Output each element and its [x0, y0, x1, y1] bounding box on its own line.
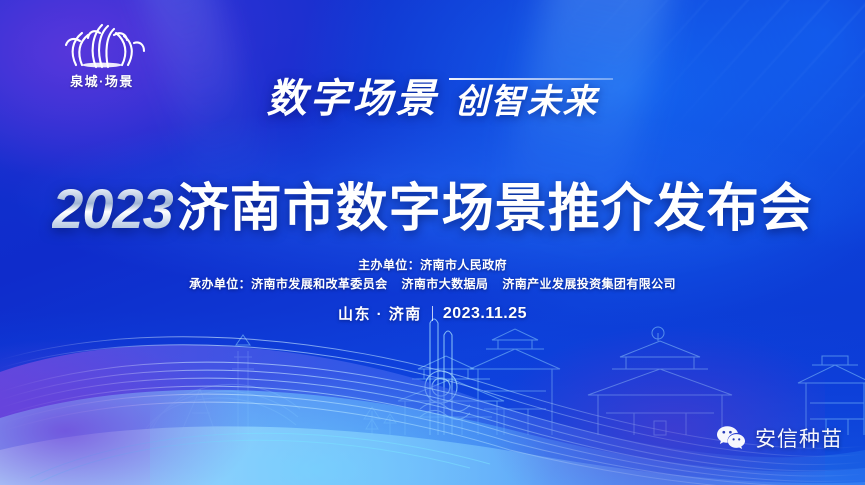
- co-organizer-line: 承办单位：济南市发展和改革委员会济南市大数据局济南产业发展投资集团有限公司: [0, 275, 865, 294]
- tagline: 数字场景 创智未来: [0, 76, 865, 119]
- wave-glow-cyan: [150, 365, 570, 485]
- event-date: 2023.11.25: [443, 305, 527, 323]
- dateline-divider: [432, 306, 433, 321]
- headline-main: 济南市数字场景推介发布会: [177, 180, 813, 238]
- tagline-divider-rule: [449, 78, 613, 80]
- tagline-primary: 数字场景: [267, 79, 439, 119]
- co-organizer-item-2: 济南市大数据局: [402, 277, 489, 291]
- spring-fountain-icon: [56, 21, 148, 69]
- headline-year: 2023: [52, 177, 173, 240]
- skyline-wave-section: [0, 310, 865, 485]
- host-organizer-line: 主办单位：济南市人民政府: [0, 256, 865, 275]
- page-title: 2023济南市数字场景推介发布会: [0, 166, 865, 241]
- event-poster: 泉城·场景 数字场景 创智未来 2023济南市数字场景推介发布会 主办单位：济南…: [0, 0, 865, 485]
- tagline-secondary-wrap: 创智未来: [455, 76, 599, 119]
- co-organizer-item-3: 济南产业发展投资集团有限公司: [502, 277, 676, 291]
- event-dateline: 山东 · 济南 2023.11.25: [0, 303, 865, 324]
- watermark-text: 安信种苗: [755, 423, 843, 453]
- tagline-secondary: 创智未来: [455, 85, 599, 119]
- co-organizer-label: 承办单位：: [189, 277, 251, 291]
- co-organizer-item-1: 济南市发展和改革委员会: [251, 277, 387, 291]
- organizer-block: 主办单位：济南市人民政府 承办单位：济南市发展和改革委员会济南市大数据局济南产业…: [0, 256, 865, 294]
- watermark: 安信种苗: [716, 423, 843, 453]
- event-location: 山东 · 济南: [338, 303, 422, 324]
- wechat-icon: [716, 425, 746, 451]
